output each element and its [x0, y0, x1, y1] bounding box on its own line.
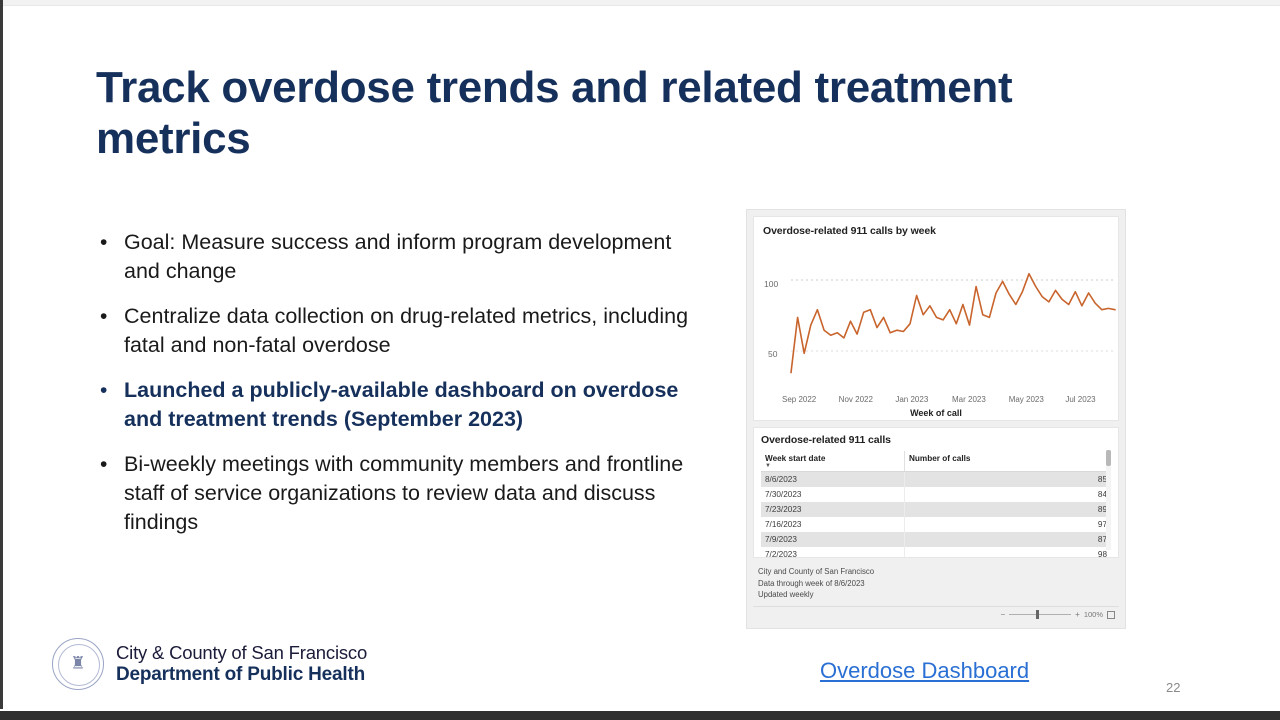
dashboard-zoom-bar: − + 100% [753, 606, 1119, 622]
cell-date: 7/23/2023 [761, 502, 905, 517]
column-header-label: Number of calls [909, 454, 970, 463]
table-row[interactable]: 7/9/2023 87 [761, 532, 1111, 547]
cell-date: 7/2/2023 [761, 547, 905, 558]
table-scrollbar[interactable] [1106, 450, 1111, 550]
table-header-row: Week start date ▼ Number of calls [761, 451, 1111, 472]
x-axis-tick-labels: Sep 2022 Nov 2022 Jan 2023 Mar 2023 May … [782, 395, 1122, 404]
window-left-edge [0, 0, 3, 712]
cell-calls: 84 [905, 487, 1112, 502]
zoom-slider-handle[interactable] [1036, 610, 1039, 619]
line-chart-plot [763, 247, 1118, 387]
slide: Track overdose trends and related treatm… [0, 0, 1280, 720]
city-seal-icon: ♜ [52, 638, 104, 690]
bullet-marker-icon: • [100, 302, 124, 331]
column-header-number-of-calls[interactable]: Number of calls [905, 451, 1112, 472]
chart-title: Overdose-related 911 calls by week [763, 225, 1109, 237]
brand-line-2: Department of Public Health [116, 664, 367, 686]
cell-calls: 89 [905, 502, 1112, 517]
source-line-2: Data through week of 8/6/2023 [758, 578, 1119, 590]
cell-calls: 87 [905, 532, 1112, 547]
source-line-3: Updated weekly [758, 589, 1119, 601]
window-top-edge [0, 0, 1280, 6]
brand-line-1: City & County of San Francisco [116, 642, 367, 664]
column-header-label: Week start date [765, 454, 825, 463]
table-title: Overdose-related 911 calls [761, 434, 1111, 446]
table-card: Overdose-related 911 calls Week start da… [753, 427, 1119, 558]
brand-logo: ♜ City & County of San Francisco Departm… [52, 638, 367, 690]
zoom-level-label: 100% [1084, 610, 1103, 619]
cell-date: 8/6/2023 [761, 472, 905, 488]
x-tick: May 2023 [1009, 395, 1066, 404]
bullet-list: • Goal: Measure success and inform progr… [100, 228, 700, 553]
table-row[interactable]: 7/2/2023 98 [761, 547, 1111, 558]
page-title: Track overdose trends and related treatm… [96, 62, 1131, 164]
dashboard-source-footer: City and County of San Francisco Data th… [753, 566, 1119, 601]
cell-calls: 98 [905, 547, 1112, 558]
list-item-label: Bi-weekly meetings with community member… [124, 450, 700, 537]
x-tick: Sep 2022 [782, 395, 839, 404]
cell-date: 7/30/2023 [761, 487, 905, 502]
window-bottom-edge [0, 711, 1280, 720]
table-row[interactable]: 7/30/2023 84 [761, 487, 1111, 502]
table-row[interactable]: 8/6/2023 85 [761, 472, 1111, 488]
zoom-out-icon[interactable]: − [1000, 611, 1005, 619]
bullet-marker-icon: • [100, 228, 124, 257]
list-item: • Goal: Measure success and inform progr… [100, 228, 700, 286]
x-tick: Mar 2023 [952, 395, 1009, 404]
x-tick: Jan 2023 [895, 395, 952, 404]
cell-date: 7/16/2023 [761, 517, 905, 532]
dashboard-panel: Overdose-related 911 calls by week 100 5… [746, 209, 1126, 629]
calls-table: Week start date ▼ Number of calls 8/6/20… [761, 451, 1111, 558]
column-header-week-start-date[interactable]: Week start date ▼ [761, 451, 905, 472]
source-line-1: City and County of San Francisco [758, 566, 1119, 578]
sort-descending-icon[interactable]: ▼ [765, 463, 771, 469]
x-tick: Nov 2022 [839, 395, 896, 404]
overdose-dashboard-link[interactable]: Overdose Dashboard [820, 658, 1029, 684]
table-row[interactable]: 7/23/2023 89 [761, 502, 1111, 517]
zoom-slider[interactable] [1009, 614, 1071, 615]
bullet-marker-icon: • [100, 450, 124, 479]
list-item-label: Centralize data collection on drug-relat… [124, 302, 700, 360]
zoom-in-icon[interactable]: + [1075, 611, 1080, 619]
x-axis-title: Week of call [754, 408, 1118, 418]
chart-card: Overdose-related 911 calls by week 100 5… [753, 216, 1119, 421]
list-item-label: Launched a publicly-available dashboard … [124, 376, 700, 434]
chart-svg [763, 247, 1118, 387]
series-line-911-calls [791, 274, 1115, 373]
list-item: • Centralize data collection on drug-rel… [100, 302, 700, 360]
x-tick: Jul 2023 [1065, 395, 1122, 404]
table-row[interactable]: 7/16/2023 97 [761, 517, 1111, 532]
cell-date: 7/9/2023 [761, 532, 905, 547]
brand-text: City & County of San Francisco Departmen… [116, 642, 367, 686]
page-number: 22 [1166, 680, 1180, 695]
list-item-label: Goal: Measure success and inform program… [124, 228, 700, 286]
cell-calls: 85 [905, 472, 1112, 488]
fullscreen-icon[interactable] [1107, 611, 1115, 619]
seal-emblem-glyph: ♜ [65, 653, 91, 675]
table-scrollbar-thumb[interactable] [1106, 450, 1111, 466]
list-item-highlighted: • Launched a publicly-available dashboar… [100, 376, 700, 434]
bullet-marker-icon: • [100, 376, 124, 405]
cell-calls: 97 [905, 517, 1112, 532]
list-item: • Bi-weekly meetings with community memb… [100, 450, 700, 537]
